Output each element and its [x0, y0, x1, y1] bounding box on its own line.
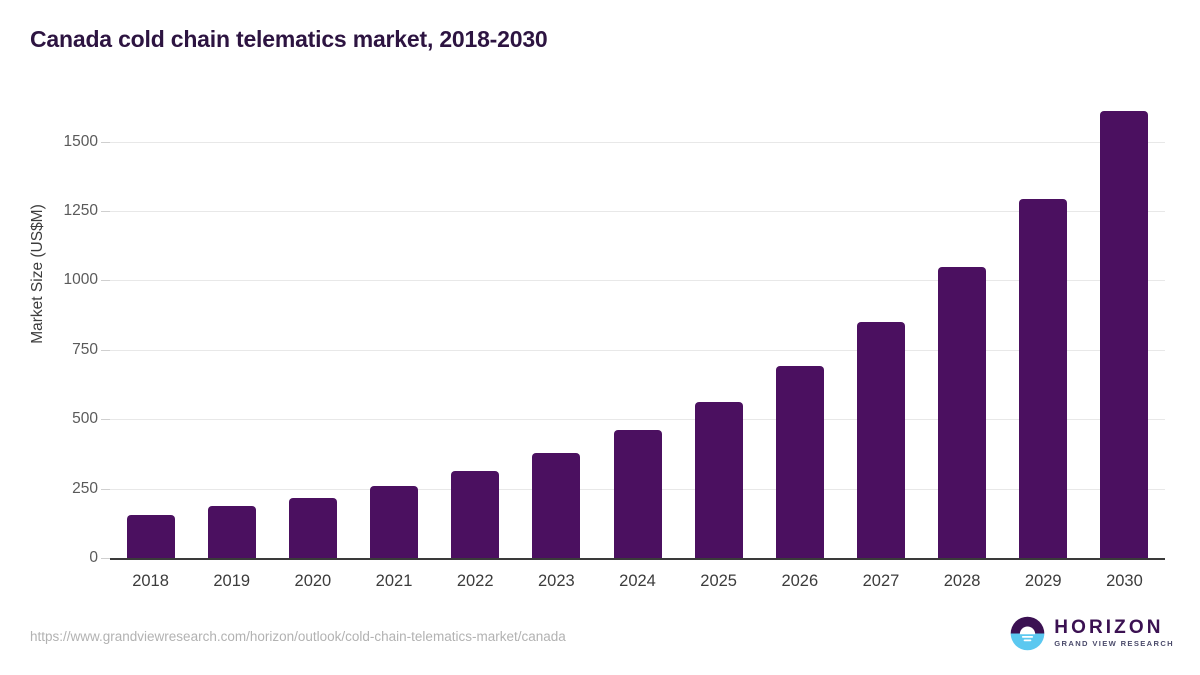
y-tick-mark — [101, 211, 110, 212]
gridline — [110, 350, 1165, 351]
x-tick-label: 2023 — [511, 572, 601, 591]
y-tick-label: 750 — [8, 341, 98, 359]
x-tick-label: 2022 — [430, 572, 520, 591]
x-tick-label: 2019 — [187, 572, 277, 591]
horizon-sunrise-icon — [1010, 616, 1045, 651]
x-tick-label: 2029 — [998, 572, 1088, 591]
x-axis-line — [110, 558, 1165, 560]
gridline — [110, 280, 1165, 281]
x-tick-label: 2018 — [106, 572, 196, 591]
y-tick-label: 0 — [8, 549, 98, 567]
bar[interactable] — [614, 430, 662, 558]
x-tick-label: 2020 — [268, 572, 358, 591]
x-tick-label: 2025 — [674, 572, 764, 591]
y-tick-mark — [101, 280, 110, 281]
page-title: Canada cold chain telematics market, 201… — [30, 26, 548, 53]
y-tick-label: 1250 — [8, 202, 98, 220]
chart-page: Canada cold chain telematics market, 201… — [0, 0, 1200, 675]
bar[interactable] — [451, 471, 499, 558]
x-tick-label: 2026 — [755, 572, 845, 591]
x-tick-label: 2021 — [349, 572, 439, 591]
bar[interactable] — [1100, 111, 1148, 558]
bar[interactable] — [127, 515, 175, 558]
y-tick-label: 500 — [8, 410, 98, 428]
bar[interactable] — [695, 402, 743, 558]
bar[interactable] — [370, 486, 418, 558]
y-tick-label: 1500 — [8, 133, 98, 151]
bar[interactable] — [938, 267, 986, 558]
gridline — [110, 419, 1165, 420]
bar[interactable] — [857, 322, 905, 558]
y-tick-mark — [101, 142, 110, 143]
x-tick-label: 2024 — [593, 572, 683, 591]
y-tick-label: 250 — [8, 480, 98, 498]
x-tick-label: 2030 — [1079, 572, 1169, 591]
logo[interactable]: HORIZON GRAND VIEW RESEARCH — [1010, 616, 1174, 651]
x-tick-label: 2027 — [836, 572, 926, 591]
bar[interactable] — [776, 366, 824, 558]
y-tick-label: 1000 — [8, 271, 98, 289]
logo-wordmark: HORIZON — [1054, 618, 1174, 638]
x-tick-label: 2028 — [917, 572, 1007, 591]
logo-tagline: GRAND VIEW RESEARCH — [1054, 640, 1174, 648]
bar[interactable] — [532, 453, 580, 558]
y-tick-mark — [101, 489, 110, 490]
bar[interactable] — [208, 506, 256, 558]
y-tick-mark — [101, 419, 110, 420]
bar[interactable] — [1019, 199, 1067, 558]
y-tick-mark — [101, 558, 110, 559]
plot-area — [110, 100, 1165, 559]
source-url[interactable]: https://www.grandviewresearch.com/horizo… — [30, 629, 566, 644]
bar[interactable] — [289, 498, 337, 558]
gridline — [110, 142, 1165, 143]
gridline — [110, 211, 1165, 212]
logo-text: HORIZON GRAND VIEW RESEARCH — [1054, 618, 1174, 648]
y-tick-mark — [101, 350, 110, 351]
